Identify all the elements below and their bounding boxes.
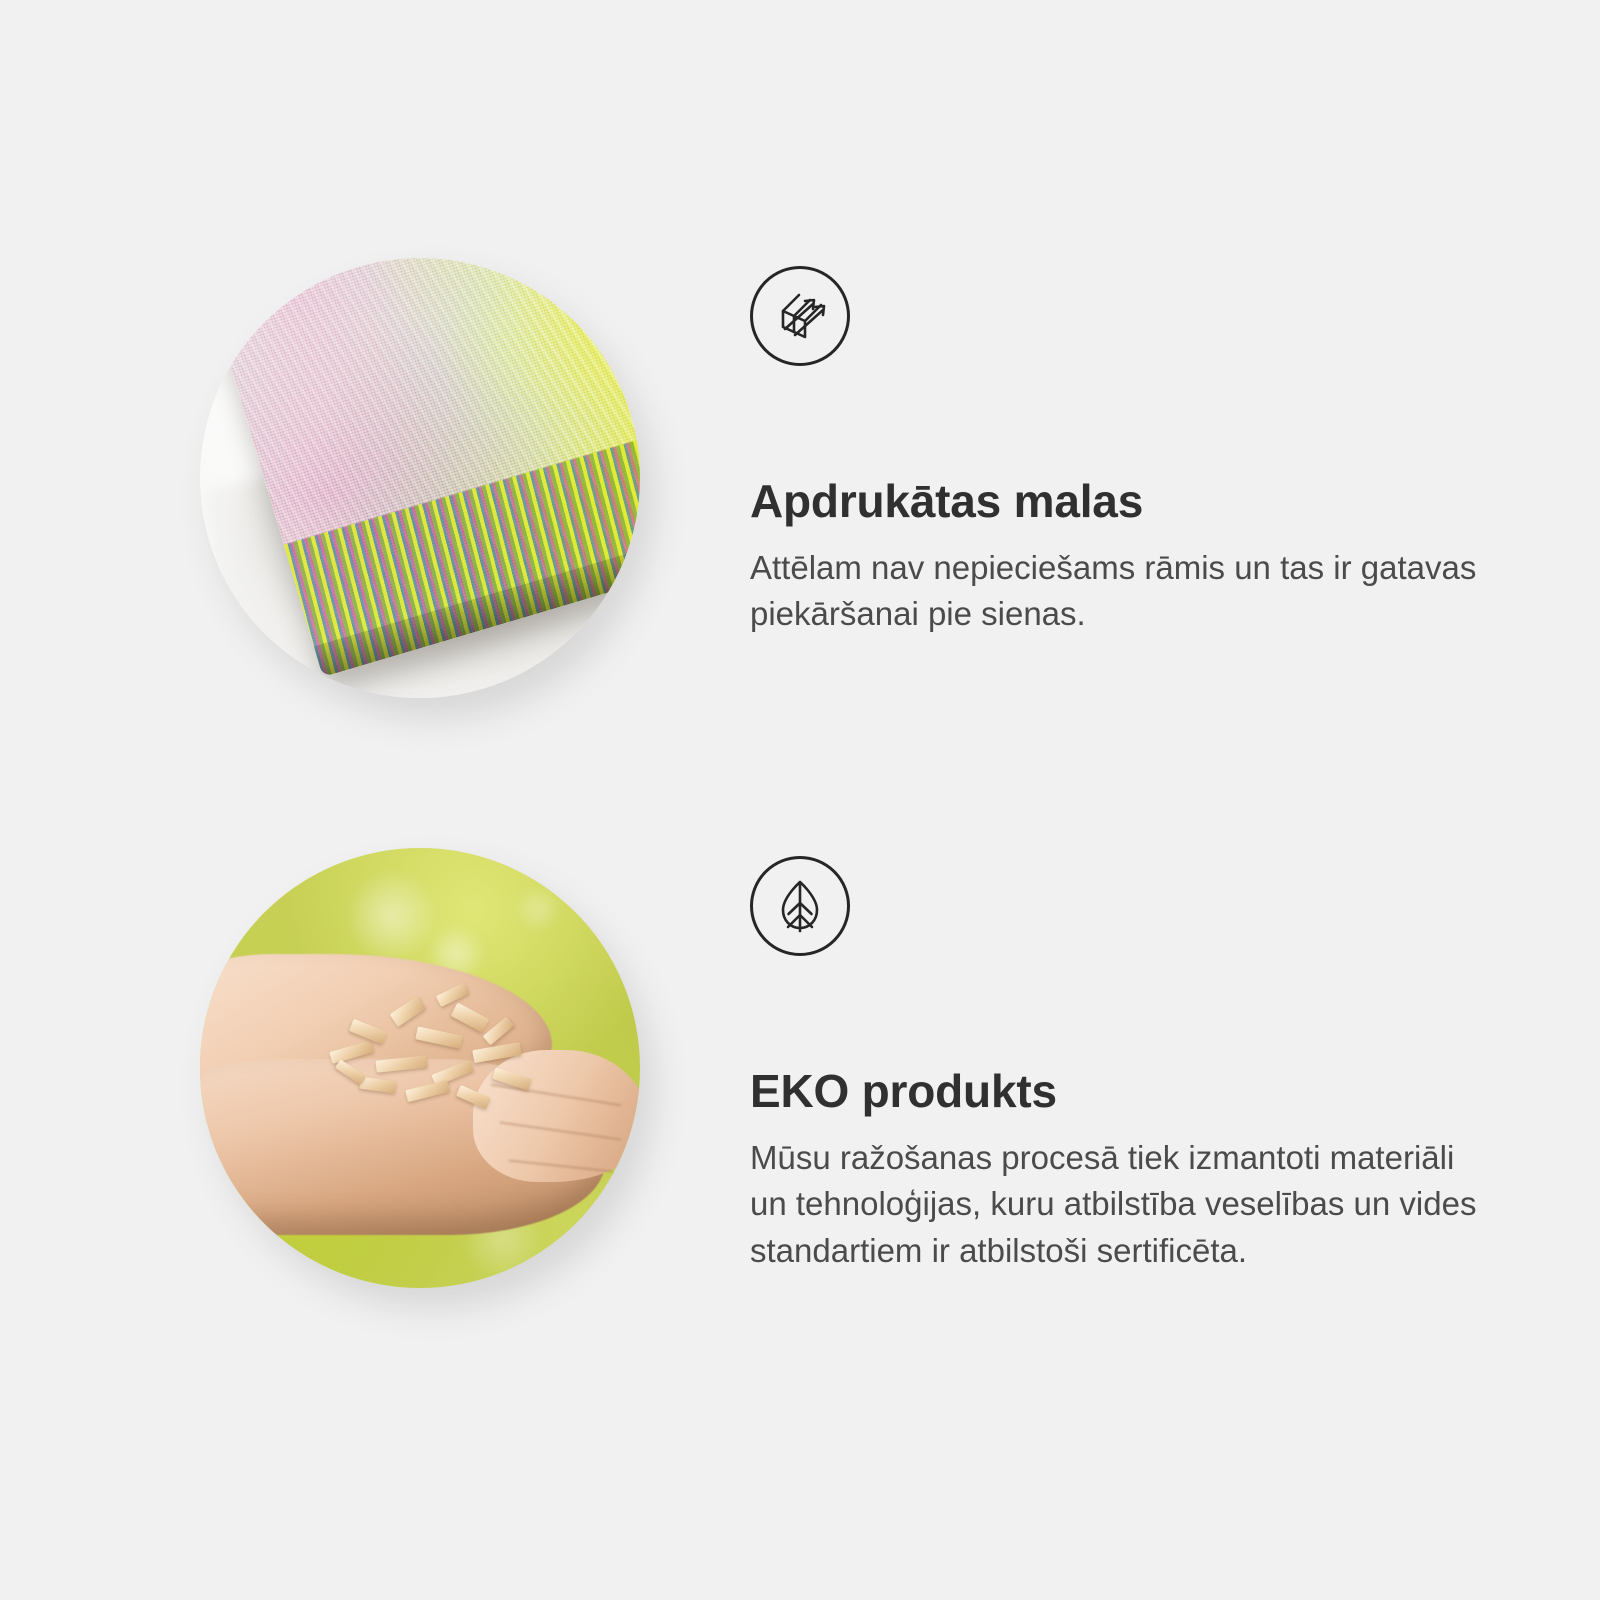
- feature-eco-product: EKO produkts Mūsu ražošanas procesā tiek…: [200, 848, 1480, 1308]
- feature-title: Apdrukātas malas: [750, 476, 1480, 527]
- leaf-glyph: [771, 877, 829, 935]
- eco-photo-backdrop: [200, 848, 640, 1288]
- wrapped-canvas-edges-glyph: [769, 285, 831, 347]
- printed-edges-copy: Apdrukātas malas Attēlam nav nepieciešam…: [750, 258, 1480, 638]
- feature-description: Mūsu ražošanas procesā tiek izmantoti ma…: [750, 1135, 1480, 1276]
- feature-description: Attēlam nav nepieciešams rāmis un tas ir…: [750, 545, 1480, 639]
- printed-edges-media: [200, 258, 660, 718]
- bokeh-highlight: [517, 888, 559, 930]
- canvas-print-corner-photo: [200, 258, 640, 698]
- leaf-icon: [750, 856, 850, 956]
- wood-chips-pile: [314, 980, 569, 1130]
- feature-printed-edges: Apdrukātas malas Attēlam nav nepieciešam…: [200, 258, 1480, 718]
- product-features-page: Apdrukātas malas Attēlam nav nepieciešam…: [0, 0, 1600, 1600]
- bokeh-highlight: [350, 874, 434, 958]
- hands-holding-wood-chips-photo: [200, 848, 640, 1288]
- canvas-photo-backdrop: [200, 258, 640, 698]
- wrapped-canvas-edges-icon: [750, 266, 850, 366]
- eco-product-media: [200, 848, 660, 1308]
- feature-title: EKO produkts: [750, 1066, 1480, 1117]
- eco-product-copy: EKO produkts Mūsu ražošanas procesā tiek…: [750, 848, 1480, 1275]
